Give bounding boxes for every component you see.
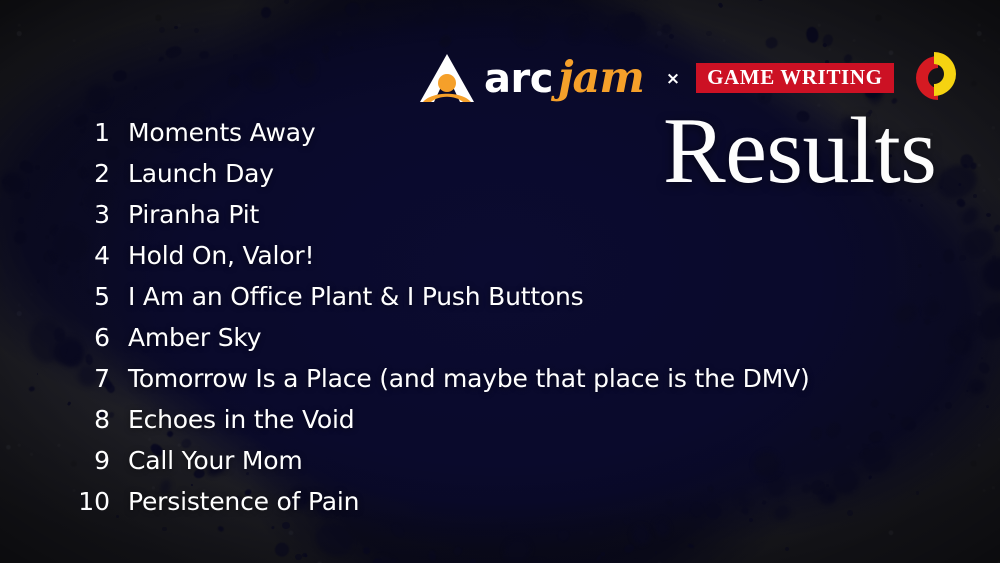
result-rank: 5 — [60, 282, 110, 311]
result-rank: 8 — [60, 405, 110, 434]
result-rank: 10 — [60, 487, 110, 516]
results-slide: arc jam × GAME WRITING Results 1Moments … — [0, 0, 1000, 563]
result-row: 2Launch Day — [60, 159, 940, 200]
result-title: Piranha Pit — [128, 200, 259, 229]
result-title: Echoes in the Void — [128, 405, 354, 434]
result-rank: 1 — [60, 118, 110, 147]
result-rank: 3 — [60, 200, 110, 229]
result-row: 3Piranha Pit — [60, 200, 940, 241]
result-row: 8Echoes in the Void — [60, 405, 940, 446]
result-rank: 2 — [60, 159, 110, 188]
result-row: 7Tomorrow Is a Place (and maybe that pla… — [60, 364, 940, 405]
result-rank: 7 — [60, 364, 110, 393]
arcjam-wordmark: arc jam — [484, 57, 644, 100]
result-row: 9Call Your Mom — [60, 446, 940, 487]
result-row: 10Persistence of Pain — [60, 487, 940, 528]
brand-arc-text: arc — [484, 59, 553, 99]
game-writing-circle-icon — [904, 51, 966, 105]
brand-jam-text: jam — [558, 57, 644, 100]
result-title: Hold On, Valor! — [128, 241, 314, 270]
result-row: 6Amber Sky — [60, 323, 940, 364]
result-rank: 6 — [60, 323, 110, 352]
result-row: 1Moments Away — [60, 118, 940, 159]
result-title: Amber Sky — [128, 323, 261, 352]
results-list: 1Moments Away2Launch Day3Piranha Pit4Hol… — [60, 118, 940, 528]
result-rank: 9 — [60, 446, 110, 475]
result-row: 4Hold On, Valor! — [60, 241, 940, 282]
result-title: Persistence of Pain — [128, 487, 359, 516]
result-title: I Am an Office Plant & I Push Buttons — [128, 282, 584, 311]
result-rank: 4 — [60, 241, 110, 270]
collab-separator-icon: × — [666, 69, 680, 89]
result-title: Call Your Mom — [128, 446, 303, 475]
brand-header: arc jam × GAME WRITING — [418, 52, 966, 104]
result-title: Tomorrow Is a Place (and maybe that plac… — [128, 364, 810, 393]
game-writing-badge: GAME WRITING — [696, 63, 893, 93]
result-title: Launch Day — [128, 159, 274, 188]
arcjam-a-mark-icon — [418, 52, 476, 104]
result-title: Moments Away — [128, 118, 315, 147]
result-row: 5I Am an Office Plant & I Push Buttons — [60, 282, 940, 323]
